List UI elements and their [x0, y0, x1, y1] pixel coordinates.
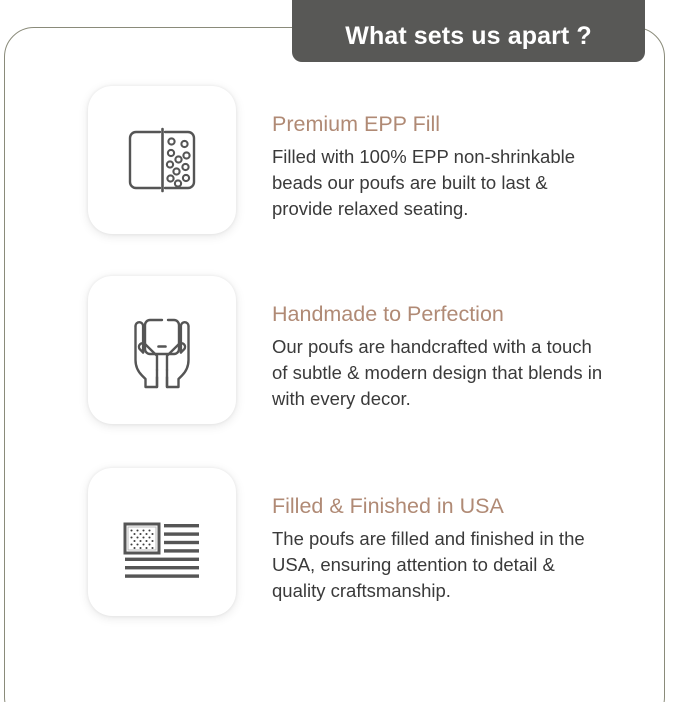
feature-text: Premium EPP Fill Filled with 100% EPP no…	[236, 86, 608, 223]
feature-text: Filled & Finished in USA The poufs are f…	[236, 468, 608, 605]
feature-item: Filled & Finished in USA The poufs are f…	[0, 468, 679, 616]
feature-description: The poufs are filled and finished in the…	[272, 526, 608, 605]
feature-title: Filled & Finished in USA	[272, 494, 608, 519]
feature-icon-tile	[88, 276, 236, 424]
feature-item: Premium EPP Fill Filled with 100% EPP no…	[0, 86, 679, 234]
feature-icon-tile	[88, 86, 236, 234]
feature-item: Handmade to Perfection Our poufs are han…	[0, 276, 679, 424]
feature-highlights-panel: What sets us apart ?	[0, 0, 679, 702]
section-banner: What sets us apart ?	[292, 0, 645, 62]
usa-flag-icon	[114, 494, 210, 590]
section-title: What sets us apart ?	[345, 24, 592, 49]
feature-description: Filled with 100% EPP non-shrinkable bead…	[272, 144, 608, 223]
feature-icon-tile	[88, 468, 236, 616]
feature-list: Premium EPP Fill Filled with 100% EPP no…	[0, 86, 679, 616]
epp-bead-fill-icon	[114, 112, 210, 208]
handmade-hands-icon	[114, 302, 210, 398]
feature-description: Our poufs are handcrafted with a touch o…	[272, 334, 608, 413]
feature-title: Premium EPP Fill	[272, 112, 608, 137]
feature-title: Handmade to Perfection	[272, 302, 608, 327]
feature-text: Handmade to Perfection Our poufs are han…	[236, 276, 608, 413]
